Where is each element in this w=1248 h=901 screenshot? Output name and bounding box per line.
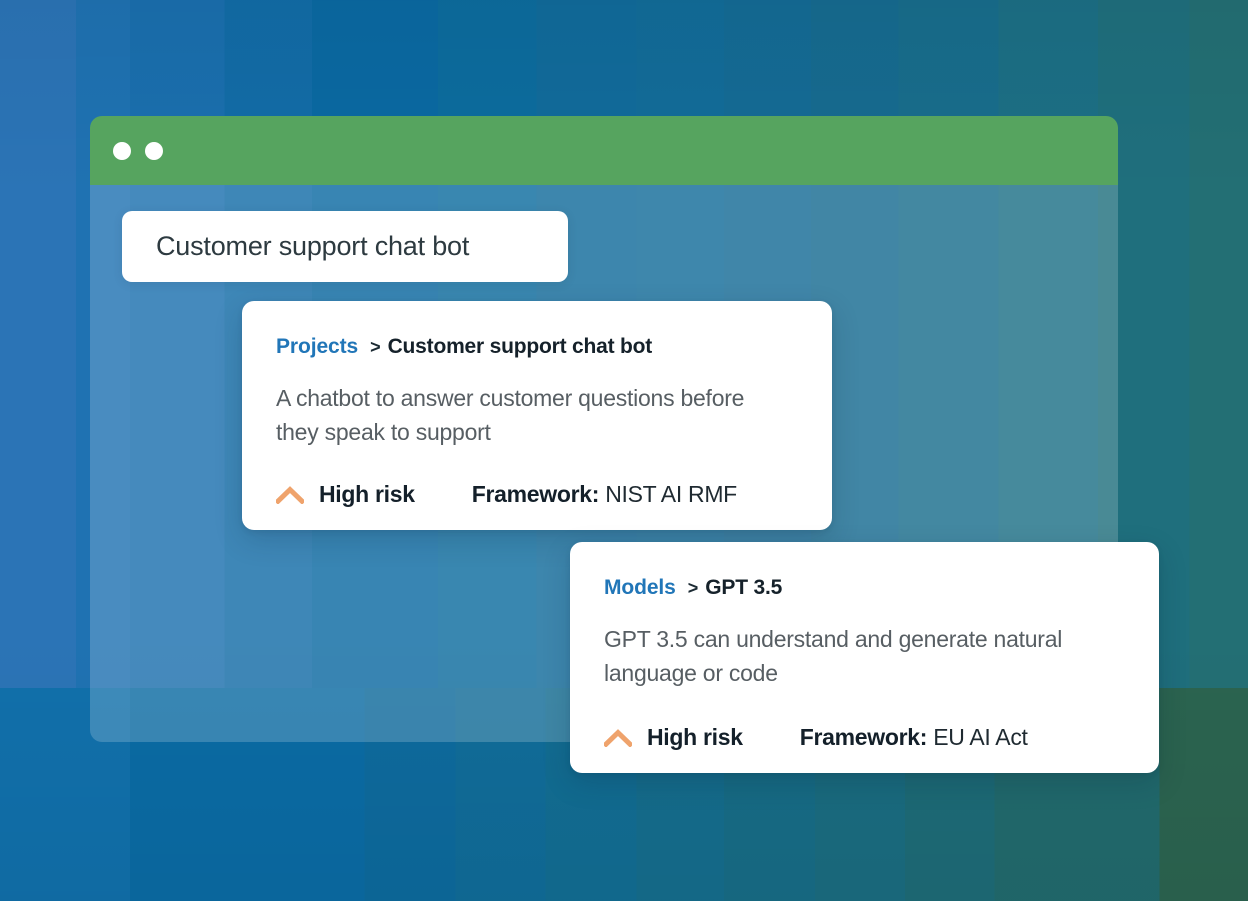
breadcrumb-link-projects[interactable]: Projects xyxy=(276,335,358,359)
risk-level-label: High risk xyxy=(647,724,743,751)
screenshot-stage: Projects > Customer support chat bot A c… xyxy=(0,0,1248,901)
framework-label: Framework: xyxy=(472,481,599,507)
risk-level-label: High risk xyxy=(319,481,415,508)
chevron-up-icon xyxy=(276,486,304,504)
framework-value: NIST AI RMF xyxy=(605,481,737,507)
model-info-card[interactable]: Models > GPT 3.5 GPT 3.5 can understand … xyxy=(570,542,1159,773)
chevron-up-icon xyxy=(604,729,632,747)
window-dot-1-icon[interactable] xyxy=(113,142,131,160)
search-input[interactable] xyxy=(122,230,568,263)
breadcrumb: Projects > Customer support chat bot xyxy=(276,335,800,359)
breadcrumb-current-model: GPT 3.5 xyxy=(705,576,782,600)
model-description: GPT 3.5 can understand and generate natu… xyxy=(604,622,1104,690)
window-dot-2-icon[interactable] xyxy=(145,142,163,160)
framework-label: Framework: xyxy=(800,724,927,750)
framework-value: EU AI Act xyxy=(933,724,1027,750)
framework-info: Framework: NIST AI RMF xyxy=(472,481,737,508)
framework-info: Framework: EU AI Act xyxy=(800,724,1028,751)
project-title-field[interactable] xyxy=(122,211,568,282)
project-info-card[interactable]: Projects > Customer support chat bot A c… xyxy=(242,301,832,530)
breadcrumb-current-project: Customer support chat bot xyxy=(388,335,653,359)
model-card-meta: High risk Framework: EU AI Act xyxy=(604,724,1028,751)
project-description: A chatbot to answer customer questions b… xyxy=(276,381,776,449)
breadcrumb-link-models[interactable]: Models xyxy=(604,576,676,600)
breadcrumb-separator-icon: > xyxy=(370,337,381,358)
project-card-meta: High risk Framework: NIST AI RMF xyxy=(276,481,737,508)
breadcrumb: Models > GPT 3.5 xyxy=(604,576,1127,600)
risk-badge: High risk xyxy=(604,724,743,751)
risk-badge: High risk xyxy=(276,481,415,508)
breadcrumb-separator-icon: > xyxy=(688,578,699,599)
window-titlebar xyxy=(90,116,1118,185)
